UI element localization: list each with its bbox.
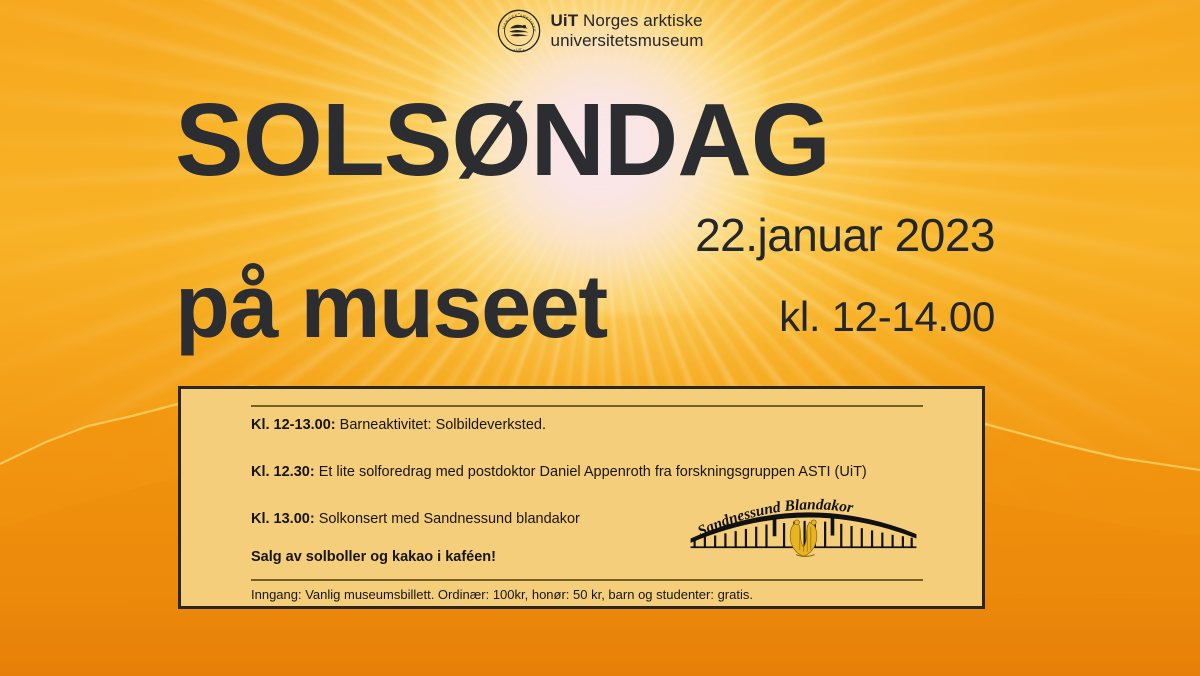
program-item-2-text: Et lite solforedrag med postdoktor Danie…: [315, 464, 867, 480]
svg-text:• UiT •: • UiT •: [513, 47, 525, 52]
program-box: Kl. 12-13.00: Barneaktivitet: Solbildeve…: [178, 386, 985, 609]
svg-text:NORGES ARKTISKE UNIVERSITET: NORGES ARKTISKE UNIVERSITET: [497, 9, 536, 32]
program-item-1-text: Barneaktivitet: Solbildeverksted.: [336, 417, 546, 433]
brand-header: • • UiT • NORGES ARKTISKE UNIVERSITET Ui…: [0, 9, 1200, 53]
page-title: SOLSØNDAG: [175, 88, 830, 191]
bridge-lyre-icon: Sandnessund Blandakor: [686, 493, 921, 559]
page-subtitle: på museet: [175, 262, 607, 352]
program-item-3-time: Kl. 13.00:: [251, 511, 315, 527]
divider-bottom: [251, 579, 923, 581]
program-item-3-text: Solkonsert med Sandnessund blandakor: [315, 511, 580, 527]
admission-info: Inngang: Vanlig museumsbillett. Ordinær:…: [251, 587, 753, 602]
program-item-2: Kl. 12.30: Et lite solforedrag med postd…: [251, 464, 867, 480]
program-item-2-time: Kl. 12.30:: [251, 464, 315, 480]
event-time: kl. 12-14.00: [779, 296, 995, 338]
program-item-1-time: Kl. 12-13.00:: [251, 417, 336, 433]
program-item-1: Kl. 12-13.00: Barneaktivitet: Solbildeve…: [251, 417, 546, 433]
event-date: 22.januar 2023: [695, 212, 995, 258]
brand-wordmark: UiT Norges arktiske universitetsmuseum: [551, 11, 704, 51]
brand-uit: UiT: [551, 11, 579, 30]
brand-line-1: Norges arktiske: [578, 11, 702, 30]
program-highlight: Salg av solboller og kakao i kaféen!: [251, 549, 496, 565]
uit-seal-icon: • • UiT • NORGES ARKTISKE UNIVERSITET: [497, 9, 541, 53]
divider-top: [251, 405, 923, 407]
program-item-3: Kl. 13.00: Solkonsert med Sandnessund bl…: [251, 511, 580, 527]
brand-line-2: universitetsmuseum: [551, 31, 704, 51]
poster-canvas: • • UiT • NORGES ARKTISKE UNIVERSITET Ui…: [0, 0, 1200, 676]
